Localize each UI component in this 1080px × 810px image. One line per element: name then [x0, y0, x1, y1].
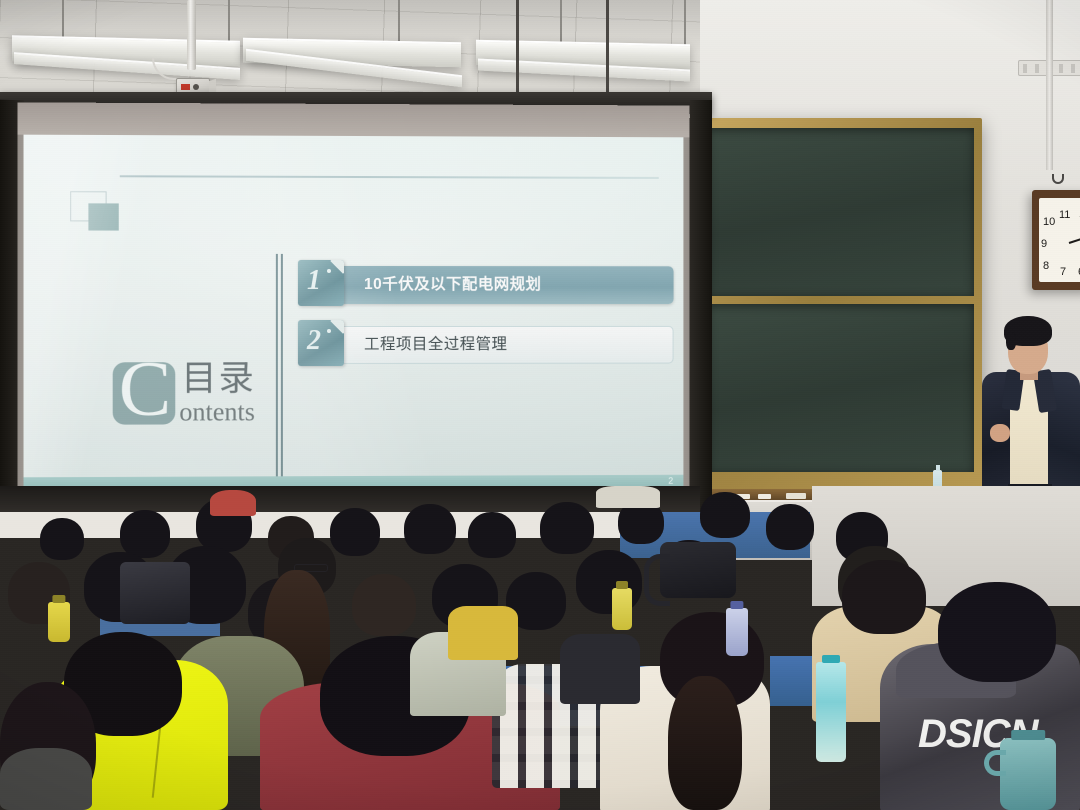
- powerpoint-slide: C 目录 ontents 1 10千伏及以下配电网规划: [24, 135, 684, 478]
- contents-logo-english: ontents: [179, 398, 255, 426]
- bottle-cap: [1011, 730, 1045, 740]
- clock-number: 8: [1043, 260, 1049, 272]
- student-head: [40, 518, 84, 560]
- ceiling-pipe: [187, 0, 196, 70]
- toc-number-dot: [327, 269, 331, 273]
- student-torso: [0, 748, 92, 810]
- divider-line: [281, 254, 283, 476]
- toc-item-number-badge: 1: [298, 260, 344, 306]
- toc-item-number: 2: [307, 324, 321, 358]
- blackboard: [700, 118, 982, 493]
- student-head: [540, 502, 594, 554]
- contents-logo: C 目录 ontents: [113, 358, 289, 437]
- lamp-hanger-rod: [560, 0, 562, 44]
- toc-number-dot: [327, 329, 331, 333]
- presenter-hair: [1004, 316, 1052, 346]
- indicator-led: [181, 84, 190, 90]
- student-torso: [448, 606, 518, 660]
- student-head: [330, 508, 380, 556]
- water-bottle: [726, 608, 748, 656]
- student-torso: [596, 486, 660, 508]
- bottle-cap: [52, 595, 65, 603]
- beverage-bottle: [612, 588, 632, 630]
- clock-number: 11: [1059, 209, 1070, 221]
- decoration-square-filled: [88, 203, 118, 230]
- blackboard-panel-upper: [708, 128, 974, 296]
- lamp-hanger-rod: [398, 0, 400, 42]
- student-head: [120, 510, 170, 558]
- slide-toc-list: 1 10千伏及以下配电网规划 2 工程项目全过程管理: [298, 266, 674, 386]
- shoulder-bag: [120, 562, 190, 624]
- student-torso: [560, 634, 640, 704]
- clock-number: 7: [1060, 266, 1066, 278]
- screen-top-margin: [17, 102, 689, 137]
- student-torso: [210, 490, 256, 516]
- lamp-hanger-rod: [228, 0, 230, 42]
- screen-border-right: [690, 100, 712, 520]
- audience: DSICN: [0, 486, 1080, 810]
- blackboard-panel-lower: [708, 304, 974, 472]
- thermos-bottle: [1000, 738, 1056, 810]
- projection-screen: C 目录 ontents 1 10千伏及以下配电网规划: [17, 102, 689, 517]
- bottle-cap: [730, 601, 743, 609]
- clock-number: 10: [1043, 216, 1055, 228]
- student-head: [766, 504, 814, 550]
- student-head: [700, 492, 750, 538]
- slide-page-number: 2: [668, 476, 673, 486]
- presenter-hand: [990, 424, 1010, 442]
- beverage-bottle: [48, 602, 70, 642]
- toc-item-label: 工程项目全过程管理: [364, 326, 507, 364]
- thermos-handle: [984, 750, 1006, 776]
- student-head: [352, 574, 416, 636]
- bottle-cap: [616, 581, 628, 589]
- student-head: [468, 512, 516, 558]
- lamp-hanger-rod: [62, 0, 64, 40]
- wall-conduit: [1046, 0, 1053, 170]
- lamp-hanger-rod: [684, 0, 686, 46]
- clock-hand: [1069, 236, 1080, 243]
- backpack-strap: [644, 554, 670, 606]
- student-head: [842, 560, 926, 634]
- clock-number: 9: [1041, 238, 1047, 250]
- toc-item-number: 1: [307, 264, 321, 298]
- toc-item-label: 10千伏及以下配电网规划: [364, 266, 541, 304]
- bottle-cap: [822, 655, 840, 663]
- slide-header-rule: [120, 175, 659, 178]
- backpack: [660, 542, 736, 598]
- student-head: [576, 550, 642, 614]
- photo-scene: 10 11 12 9 8 7 6: [0, 0, 1080, 810]
- student-head: [938, 582, 1056, 682]
- toc-item-number-badge: 2: [298, 320, 344, 366]
- contents-logo-chinese: 目录: [181, 360, 255, 398]
- wall-clock: 10 11 12 9 8 7 6: [1032, 190, 1080, 290]
- control-knob: [193, 84, 199, 90]
- toc-item: 2 工程项目全过程管理: [298, 326, 674, 364]
- student-head: [404, 504, 456, 554]
- divider-line: [276, 254, 278, 476]
- clock-face: 10 11 12 9 8 7 6: [1039, 198, 1080, 282]
- ponytail: [668, 676, 742, 810]
- toc-item: 1 10千伏及以下配电网规划: [298, 266, 674, 304]
- slide-vertical-divider: [276, 254, 284, 476]
- water-bottle: [816, 662, 846, 762]
